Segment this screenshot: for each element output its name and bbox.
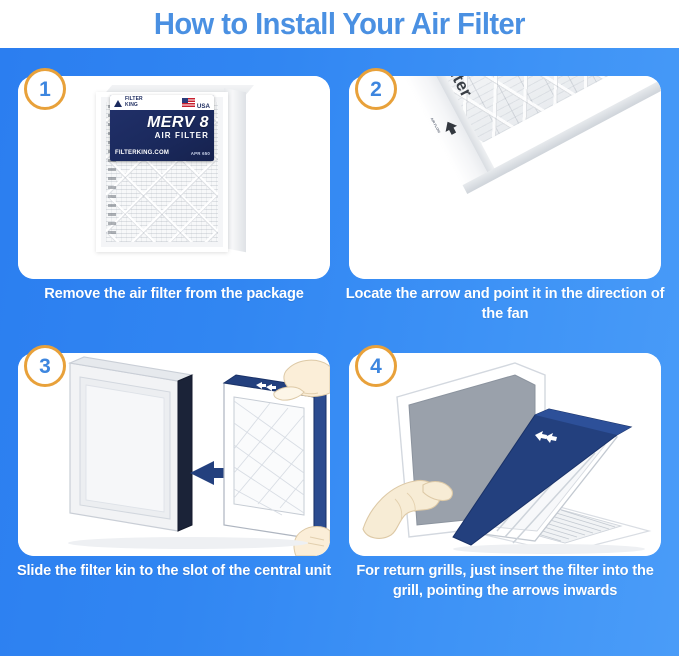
step-1-image-card: FILTER KING MADE IN bbox=[18, 76, 330, 279]
step-3-image-card bbox=[18, 353, 330, 556]
made-in-usa-text: USA bbox=[197, 103, 210, 110]
step-1-illustration: FILTER KING MADE IN bbox=[18, 76, 330, 279]
step-number-badge-2: 2 bbox=[355, 68, 397, 110]
slide-filter-diagram bbox=[18, 353, 330, 556]
brand-line-2: KING bbox=[125, 102, 138, 108]
step-number-4: 4 bbox=[370, 356, 382, 377]
step-number-badge-1: 1 bbox=[24, 68, 66, 110]
page-title: How to Install Your Air Filter bbox=[154, 6, 525, 42]
product-type: AIR FILTER bbox=[110, 131, 209, 140]
air-filter-panel bbox=[224, 375, 326, 539]
made-in-usa-mark: MADE IN USA bbox=[182, 95, 210, 113]
step-4-image-card bbox=[349, 353, 661, 556]
step-2-illustration: AIR FLOW Air Filter AIRFLOW bbox=[349, 76, 661, 279]
step-3-illustration bbox=[18, 353, 330, 556]
floor-shadow bbox=[68, 537, 308, 549]
step-caption-1: Remove the air filter from the package bbox=[12, 284, 336, 304]
step-4-illustration bbox=[349, 353, 661, 556]
brand-website: FILTERKING.COM bbox=[115, 150, 169, 156]
merv-rating: MERV 8 bbox=[110, 114, 209, 132]
crown-icon bbox=[114, 98, 123, 107]
step-card-3: 3 Slide the filter kin to the slot of th… bbox=[18, 353, 330, 616]
step-caption-3: Slide the filter kin to the slot of the … bbox=[12, 561, 336, 581]
infographic-page: How to Install Your Air Filter bbox=[0, 0, 679, 656]
usa-flag-icon bbox=[182, 98, 195, 107]
merv8-filter-product: FILTER KING MADE IN bbox=[96, 85, 246, 252]
step-caption-4: For return grills, just insert the filte… bbox=[343, 561, 667, 601]
step-number-badge-3: 3 bbox=[24, 345, 66, 387]
central-unit bbox=[70, 357, 192, 531]
step-number-1: 1 bbox=[39, 79, 51, 100]
product-label: FILTER KING MADE IN bbox=[110, 95, 214, 161]
steps-grid: FILTER KING MADE IN bbox=[0, 48, 679, 656]
step-number-badge-4: 4 bbox=[355, 345, 397, 387]
step-caption-2: Locate the arrow and point it in the dir… bbox=[343, 284, 667, 324]
filter-king-logo: FILTER KING bbox=[114, 97, 143, 107]
step-card-2: AIR FLOW Air Filter AIRFLOW 2 bbox=[349, 76, 661, 339]
title-bar: How to Install Your Air Filter bbox=[0, 0, 679, 48]
apr-rating: APR 650 bbox=[191, 151, 210, 156]
packaged-filter-photo: FILTER KING MADE IN bbox=[18, 76, 330, 279]
step-number-3: 3 bbox=[39, 356, 51, 377]
step-card-1: FILTER KING MADE IN bbox=[18, 76, 330, 339]
step-card-4: 4 For return grills, just insert the fil… bbox=[349, 353, 661, 616]
step-2-image-card: AIR FLOW Air Filter AIRFLOW bbox=[349, 76, 661, 279]
steps-canvas: FILTER KING MADE IN bbox=[0, 48, 679, 656]
filter-corner-body: AIR FLOW Air Filter AIRFLOW bbox=[379, 76, 661, 231]
return-grill-diagram bbox=[349, 353, 661, 556]
grill-shadow bbox=[453, 544, 645, 554]
step-number-2: 2 bbox=[370, 79, 382, 100]
label-header: FILTER KING MADE IN bbox=[110, 95, 214, 110]
filter-corner-photo: AIR FLOW Air Filter AIRFLOW bbox=[349, 76, 661, 279]
